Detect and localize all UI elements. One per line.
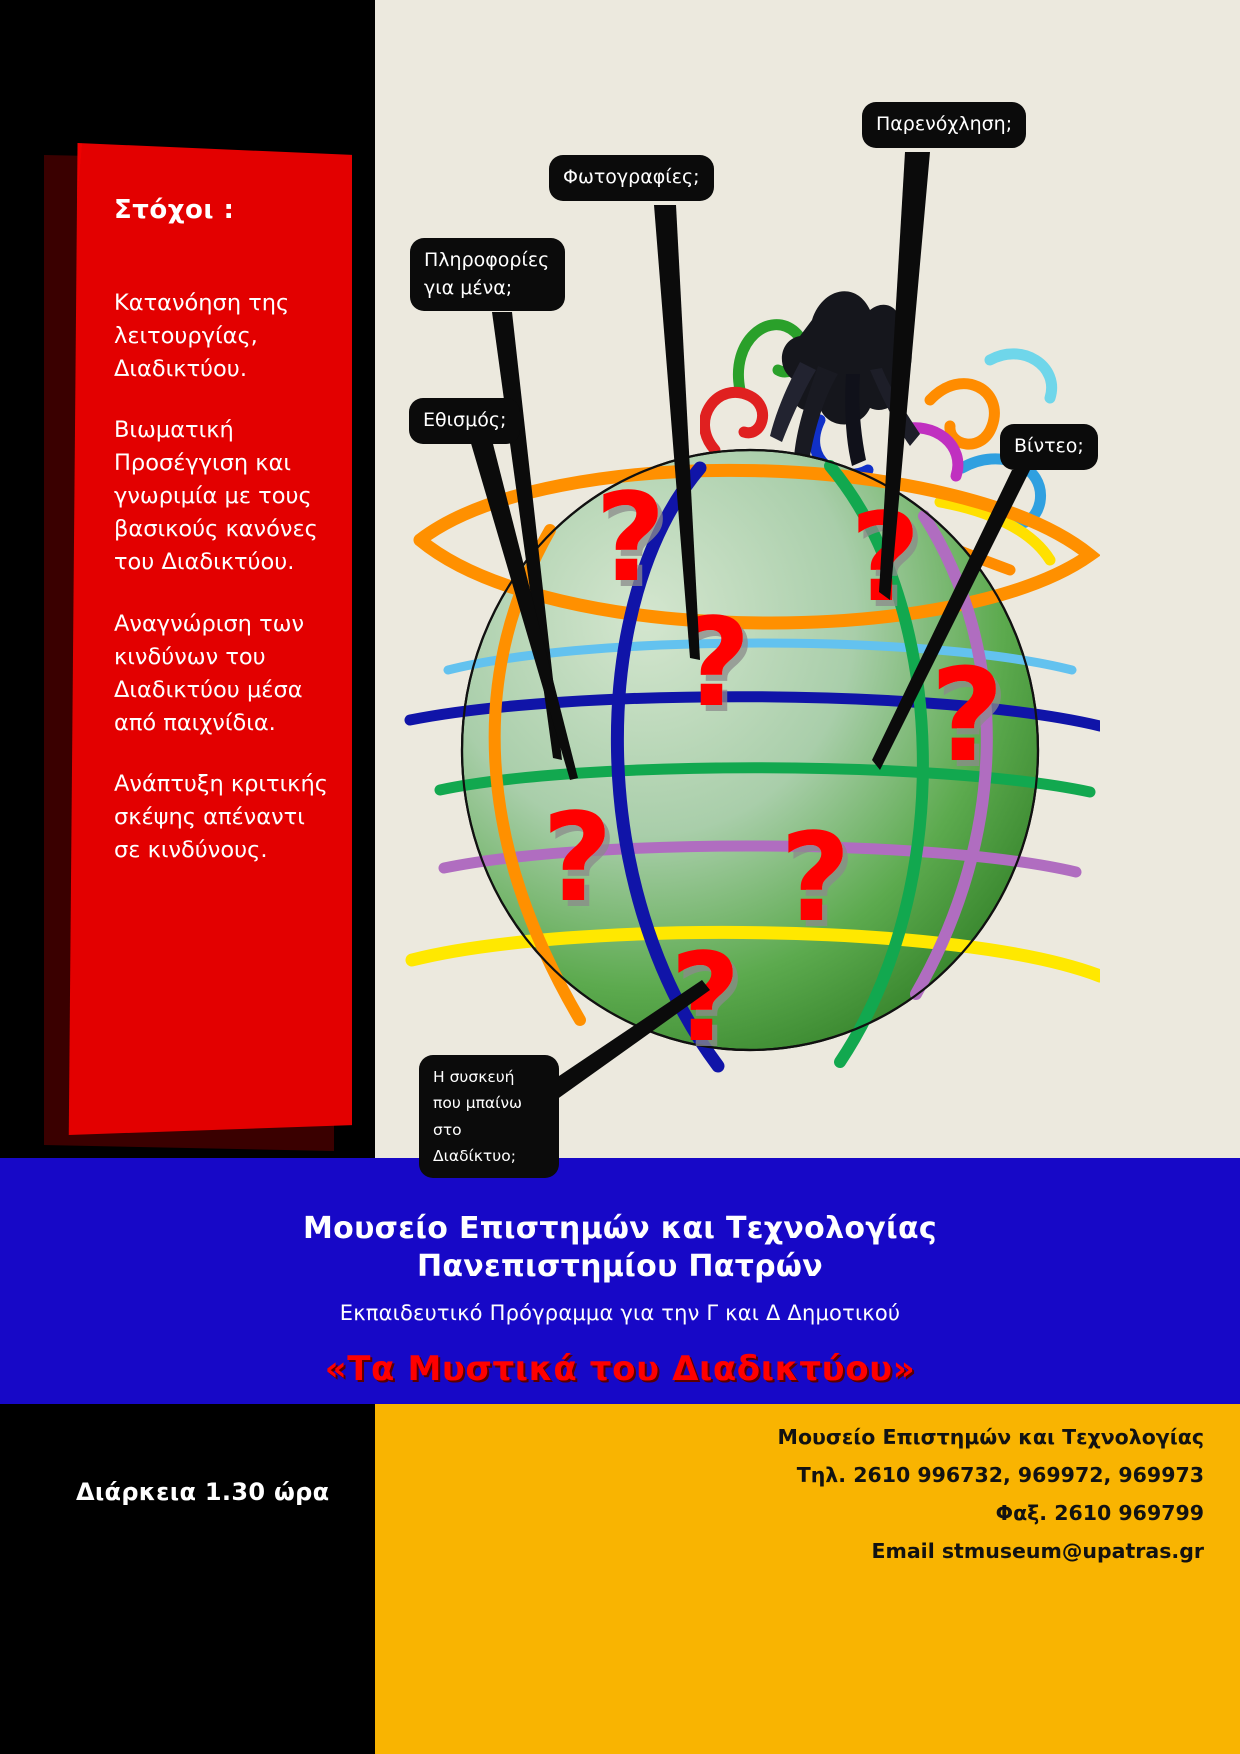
contact-line-email[interactable]: Email stmuseum@upatras.gr [778,1532,1204,1570]
pointer-photos [654,205,700,660]
bubble-harassment[interactable]: Παρενόχληση; [862,102,1026,148]
footer-black-background [0,1404,375,1754]
contact-line-phone: Τηλ. 2610 996732, 969972, 969973 [778,1456,1204,1494]
bubble-photos[interactable]: Φωτογραφίες; [549,155,714,201]
museum-title: Μουσείο Επιστημών και Τεχνολογίας Πανεπι… [0,1158,1240,1287]
museum-title-line2: Πανεπιστημίου Πατρών [0,1248,1240,1286]
contact-box: Μουσείο Επιστημών και Τεχνολογίας Τηλ. 2… [375,1404,1240,1754]
pointer-device [556,980,710,1100]
contact-line-fax: Φαξ. 2610 969799 [778,1494,1204,1532]
duration-text: Διάρκεια 1.30 ώρα [76,1478,366,1506]
contact-details: Μουσείο Επιστημών και Τεχνολογίας Τηλ. 2… [778,1418,1204,1571]
blue-footer-band: Μουσείο Επιστημών και Τεχνολογίας Πανεπι… [0,1158,1240,1404]
bubble-video[interactable]: Βίντεο; [1000,424,1098,470]
poster-root: Στόχοι : Κατανόηση της λειτουργίας, Διαδ… [0,0,1240,1754]
program-main-title: «Τα Μυστικά του Διαδικτύου» [0,1349,1240,1389]
pointer-harass [879,152,930,600]
bubble-personal-info[interactable]: Πληροφορίες για μένα; [410,238,565,311]
bubble-addiction[interactable]: Εθισμός; [409,398,520,444]
bubble-device[interactable]: Η συσκευή που μπαίνω στο Διαδίκτυο; [419,1055,559,1178]
program-subtitle: Εκπαιδευτικό Πρόγραμμα για την Γ και Δ Δ… [0,1301,1240,1325]
museum-title-line1: Μουσείο Επιστημών και Τεχνολογίας [0,1210,1240,1248]
contact-line-museum: Μουσείο Επιστημών και Τεχνολογίας [778,1418,1204,1456]
